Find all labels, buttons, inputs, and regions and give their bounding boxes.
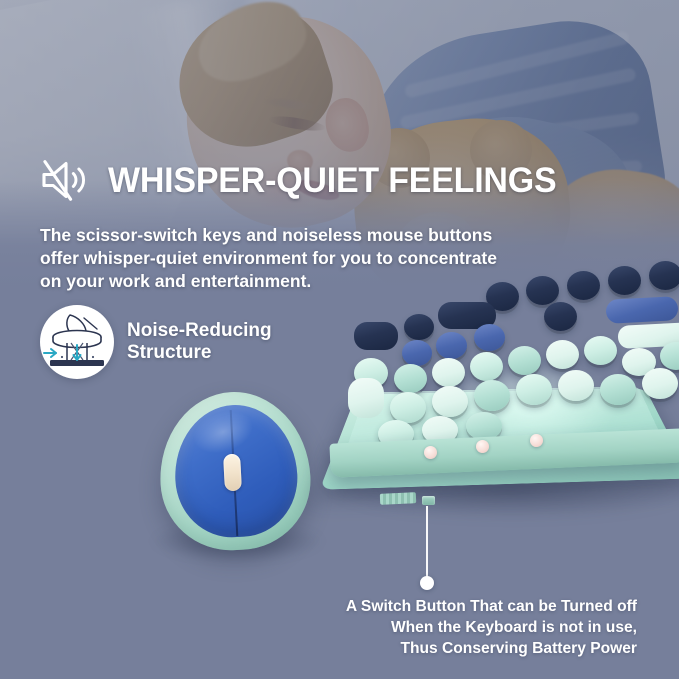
feature-badge-label-line: Structure bbox=[127, 342, 272, 364]
key-main[interactable] bbox=[432, 358, 465, 387]
power-switch[interactable] bbox=[422, 496, 435, 505]
keyboard-vents bbox=[380, 492, 416, 505]
key-pgdn[interactable] bbox=[402, 340, 432, 366]
key-main[interactable] bbox=[600, 374, 636, 405]
led-indicator bbox=[476, 440, 489, 453]
key-arrow-down[interactable] bbox=[544, 302, 577, 331]
key-enter[interactable] bbox=[354, 322, 398, 350]
callout-leader-line bbox=[426, 506, 428, 578]
key-main[interactable] bbox=[390, 392, 426, 423]
key-main[interactable] bbox=[546, 340, 579, 369]
key-alt[interactable] bbox=[649, 261, 679, 290]
wireless-mouse bbox=[160, 392, 310, 550]
key-main[interactable] bbox=[584, 336, 617, 365]
wireless-keyboard bbox=[318, 250, 679, 525]
page-title: WHISPER-QUIET FEELINGS bbox=[108, 163, 556, 198]
key-main[interactable] bbox=[558, 370, 594, 401]
body-copy-line: The scissor-switch keys and noiseless mo… bbox=[40, 224, 560, 247]
key-main[interactable] bbox=[516, 374, 552, 405]
feature-badge-label: Noise-Reducing Structure bbox=[127, 320, 272, 365]
key-pgup[interactable] bbox=[436, 332, 467, 359]
key-main[interactable] bbox=[432, 386, 468, 417]
key-main[interactable] bbox=[660, 342, 679, 370]
mouse-scroll-wheel bbox=[223, 454, 242, 492]
callout-dot bbox=[420, 576, 434, 590]
key-blue-wide[interactable] bbox=[605, 296, 678, 324]
key-main[interactable] bbox=[508, 346, 541, 375]
callout-caption-line: A Switch Button That can be Turned off bbox=[217, 596, 637, 617]
key-main[interactable] bbox=[642, 368, 678, 399]
key-main[interactable] bbox=[474, 380, 510, 411]
key-end[interactable] bbox=[474, 324, 505, 351]
promo-banner: WHISPER-QUIET FEELINGS The scissor-switc… bbox=[0, 0, 679, 679]
key-dark[interactable] bbox=[526, 276, 559, 305]
feature-badge-label-line: Noise-Reducing bbox=[127, 320, 272, 342]
callout-caption-line: Thus Conserving Battery Power bbox=[217, 638, 637, 659]
headline-row: WHISPER-QUIET FEELINGS bbox=[38, 158, 570, 202]
key-dark[interactable] bbox=[567, 271, 600, 300]
led-indicator bbox=[530, 434, 543, 447]
key-main[interactable] bbox=[470, 352, 503, 381]
mute-speaker-icon bbox=[38, 158, 94, 202]
callout-caption-line: When the Keyboard is not in use, bbox=[217, 617, 637, 638]
key-del[interactable] bbox=[404, 314, 434, 340]
feature-badge: Noise-Reducing Structure bbox=[40, 305, 272, 379]
key-main[interactable] bbox=[394, 364, 427, 393]
key-ctrl[interactable] bbox=[608, 266, 641, 295]
callout-caption: A Switch Button That can be Turned off W… bbox=[217, 596, 637, 660]
noise-reducing-structure-icon bbox=[40, 305, 114, 379]
key-tall[interactable] bbox=[348, 378, 384, 418]
led-indicator bbox=[424, 446, 437, 459]
